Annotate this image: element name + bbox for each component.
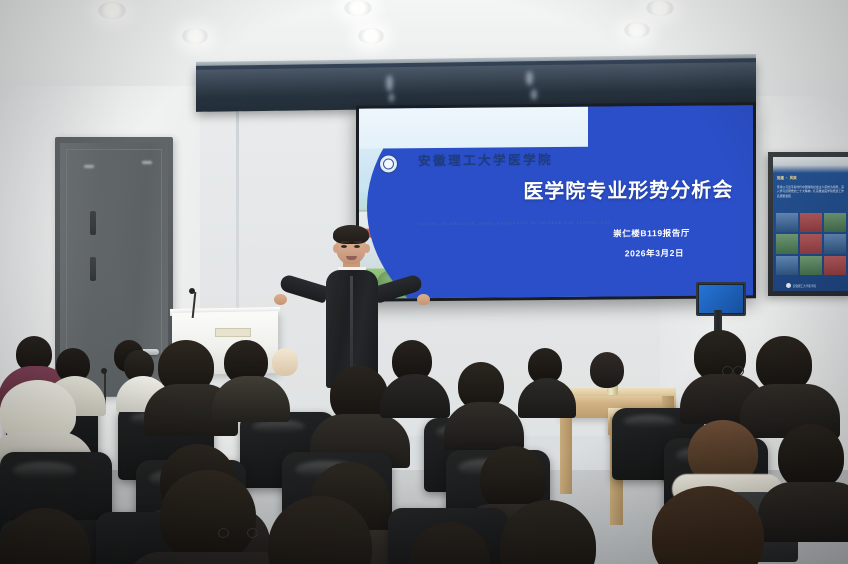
speaker-eye-right (354, 245, 360, 248)
slide-university-band (359, 107, 588, 149)
poster-photo-cell (824, 234, 846, 253)
speaker-right-hand (417, 294, 430, 305)
poster-photo-cell (800, 256, 822, 275)
poster-photo-cell (776, 213, 798, 232)
poster-photo-cell (800, 234, 822, 253)
poster-photo-cell (776, 234, 798, 253)
presentation-slide: 安徽理工大学医学院 SCHOOL OF MEDICINE, ANHUI UNIV… (359, 105, 753, 298)
shoulders (444, 402, 524, 450)
head (590, 352, 624, 388)
projection-screen: 安徽理工大学医学院 SCHOOL OF MEDICINE, ANHUI UNIV… (356, 102, 756, 301)
wall-poster-frame: 党建 ・ 风采 坚持以习近平新时代中国特色社会主义思想为指导，深入学习贯彻党的二… (768, 152, 848, 296)
slide-title: 医学院专业形势分析会 (523, 174, 733, 205)
ceiling-light-5 (624, 22, 650, 38)
seat-highlight (13, 462, 76, 479)
eyeglasses (722, 366, 744, 374)
poster-header: 党建 ・ 风采 (777, 176, 797, 181)
wall-poster: 党建 ・ 风采 坚持以习近平新时代中国特色社会主义思想为指导，深入学习贯彻党的二… (773, 157, 848, 291)
head (778, 424, 844, 490)
valance-gloss (196, 62, 756, 97)
speaker-presenting (300, 228, 404, 388)
floor-microphone-icon (101, 368, 107, 374)
valance-reflection-3 (526, 71, 533, 85)
door-hinge-upper (90, 211, 96, 235)
speaker-ear-right (364, 244, 370, 253)
lecture-hall-photo: 安徽理工大学医学院 SCHOOL OF MEDICINE, ANHUI UNIV… (0, 0, 848, 564)
door-hinge-lower (90, 257, 96, 281)
poster-photo-grid (776, 213, 846, 275)
ceiling-light-1 (98, 2, 126, 19)
speaker-hair (333, 225, 369, 244)
door-highlight-2 (142, 161, 152, 164)
speaker-brow-left (341, 241, 349, 243)
poster-photo-cell (776, 256, 798, 275)
valance-reflection-2 (389, 93, 394, 102)
speaker-brow-right (354, 241, 362, 243)
speaker-eye-left (341, 245, 347, 248)
head (272, 348, 298, 376)
speaker-ear-left (333, 244, 339, 253)
slide-date: 2026年3月2日 (625, 246, 684, 259)
ceiling-light-3 (344, 0, 372, 16)
poster-photo-cell (800, 213, 822, 232)
lectern-name-plate (215, 328, 251, 337)
university-seal-icon (379, 154, 398, 173)
door-highlight-1 (84, 165, 94, 168)
valance-reflection-1 (386, 75, 393, 91)
poster-photo-cell (824, 213, 846, 232)
poster-seal-icon (786, 283, 791, 288)
poster-footer: 安徽理工大学医学院 (793, 284, 816, 288)
ceiling-light-2 (182, 28, 208, 44)
slide-venue: 崇仁楼B119报告厅 (613, 226, 690, 239)
university-name: 安徽理工大学医学院 (418, 149, 553, 169)
ceiling-light-6 (646, 0, 674, 16)
seat-highlight (623, 415, 675, 428)
poster-photo-cell (824, 256, 846, 275)
poster-body-text: 坚持以习近平新时代中国特色社会主义思想为指导，深入学习贯彻党的二十大精神，扎实推… (777, 185, 845, 198)
shoulders (758, 482, 848, 542)
eyeglasses (218, 528, 258, 543)
valance-reflection-4 (531, 89, 537, 100)
ceiling-light-4 (358, 28, 384, 44)
head (160, 470, 256, 562)
microphone-icon (189, 288, 195, 294)
speaker-left-hand (274, 294, 287, 305)
